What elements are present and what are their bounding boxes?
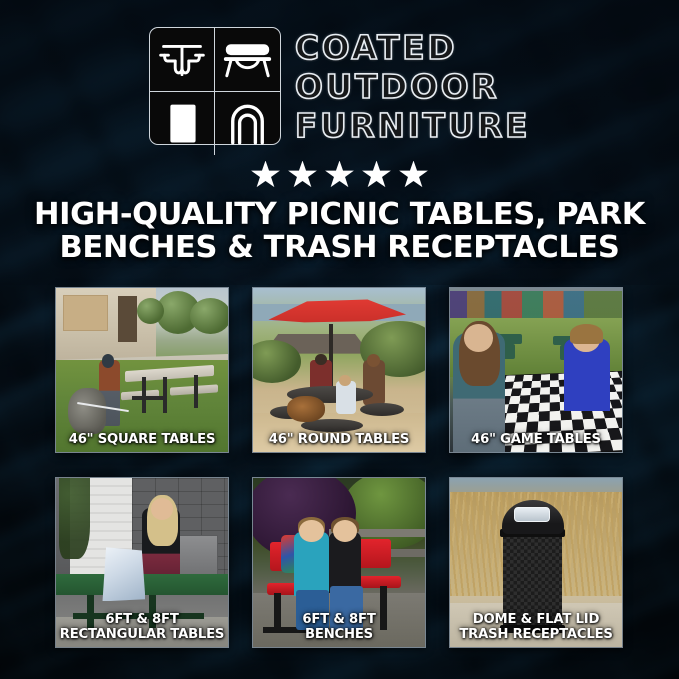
headline: HIGH-QUALITY PICNIC TABLES, PARK BENCHES…: [30, 198, 649, 264]
star-icon: [251, 161, 281, 190]
tile-caption: DOME & FLAT LID TRASH RECEPTACLES: [453, 613, 619, 642]
logo-wordmark: COATED OUTDOOR FURNITURE: [295, 27, 530, 145]
tile-caption-line: 46" GAME TABLES: [453, 433, 619, 448]
product-tile-game-tables[interactable]: 46" GAME TABLES: [449, 287, 623, 453]
tile-caption-line: 6FT & 8FT: [256, 613, 422, 628]
tile-caption-line: 46" SQUARE TABLES: [59, 433, 225, 448]
product-photo-square-tables: [56, 288, 228, 452]
tile-caption: 46" GAME TABLES: [453, 433, 619, 448]
product-tile-rectangular-tables[interactable]: 6FT & 8FT RECTANGULAR TABLES: [55, 477, 229, 648]
logo-line-2: OUTDOOR: [295, 67, 530, 106]
product-tile-square-tables[interactable]: 46" SQUARE TABLES: [55, 287, 229, 453]
logo-line-3: FURNITURE: [295, 106, 530, 145]
tile-caption-line: 6FT & 8FT: [59, 613, 225, 628]
tile-caption: 46" SQUARE TABLES: [59, 433, 225, 448]
rating-stars: [0, 158, 679, 192]
star-icon: [325, 161, 355, 190]
tile-caption-line: RECTANGULAR TABLES: [59, 628, 225, 643]
picnic-table-icon: [150, 28, 215, 92]
product-photo-game-tables: [450, 288, 622, 452]
product-tile-benches[interactable]: 6FT & 8FT BENCHES: [252, 477, 426, 648]
tile-caption-line: TRASH RECEPTACLES: [453, 628, 619, 643]
logo-line-1: COATED: [295, 28, 530, 67]
park-bench-icon: [215, 28, 280, 92]
product-photo-round-tables: [253, 288, 425, 452]
trash-receptacle-icon: [150, 92, 215, 155]
star-icon: [288, 161, 318, 190]
star-icon: [399, 161, 429, 190]
star-icon: [362, 161, 392, 190]
headline-line-1: HIGH-QUALITY PICNIC TABLES, PARK: [30, 198, 649, 231]
poster-canvas: COATED OUTDOOR FURNITURE HIGH-QUALITY PI…: [0, 0, 679, 679]
poster-content: COATED OUTDOOR FURNITURE HIGH-QUALITY PI…: [0, 0, 679, 679]
product-tile-grid: 46" SQUARE TABLES: [55, 287, 623, 648]
tile-caption-line: 46" ROUND TABLES: [256, 433, 422, 448]
tile-caption: 46" ROUND TABLES: [256, 433, 422, 448]
bike-rack-icon: [215, 92, 280, 155]
product-tile-round-tables[interactable]: 46" ROUND TABLES: [252, 287, 426, 453]
tile-caption-line: DOME & FLAT LID: [453, 613, 619, 628]
logo-mark-icon-grid: [149, 27, 281, 145]
tile-caption: 6FT & 8FT BENCHES: [256, 613, 422, 642]
tile-caption: 6FT & 8FT RECTANGULAR TABLES: [59, 613, 225, 642]
brand-logo: COATED OUTDOOR FURNITURE: [0, 27, 679, 145]
tile-caption-line: BENCHES: [256, 628, 422, 643]
product-tile-trash-receptacles[interactable]: DOME & FLAT LID TRASH RECEPTACLES: [449, 477, 623, 648]
headline-line-2: BENCHES & TRASH RECEPTACLES: [30, 231, 649, 264]
